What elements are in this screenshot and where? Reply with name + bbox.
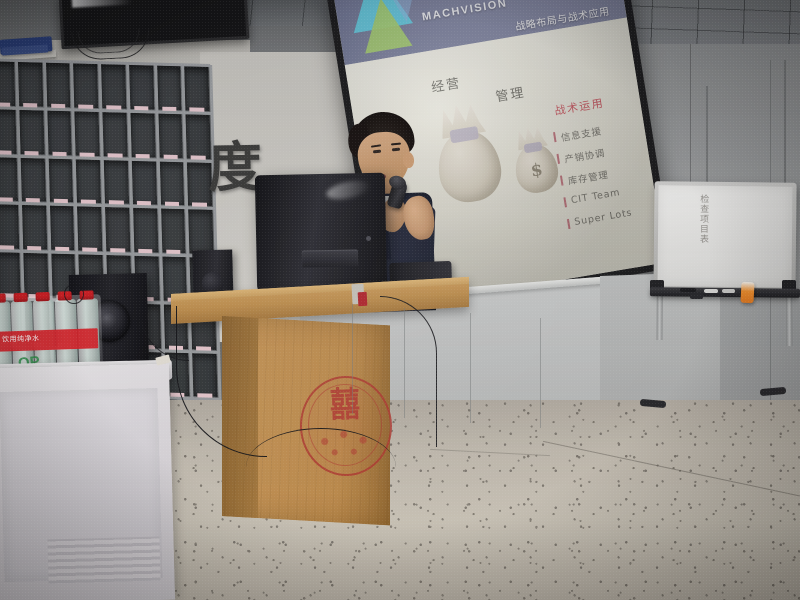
shelf-cell [45, 63, 70, 107]
bottle-cap [36, 292, 50, 301]
shelf-cell [159, 161, 184, 205]
shelf-cell [49, 206, 74, 250]
shelf-cell [73, 63, 98, 107]
shelf-cell [0, 157, 18, 201]
tactic-item: 产销协调 [563, 145, 606, 166]
cable-loop [64, 284, 84, 304]
shelf-cell [129, 65, 154, 109]
wall-panel-seam [470, 313, 471, 423]
tactic-item: 信息支援 [560, 123, 603, 144]
presenter-badge-accent [358, 292, 368, 306]
logo-triangle-green-icon [357, 0, 413, 54]
shelf-cell [0, 61, 15, 105]
wall-panel-seam [352, 304, 353, 414]
shelf-cell [130, 113, 155, 157]
wall-panel-seam [404, 308, 405, 418]
shelf-cell [48, 158, 73, 202]
bag-label-left: 经营 [430, 72, 463, 96]
whiteboard-marker [704, 289, 718, 293]
shelf-cell [75, 111, 100, 155]
tactic-item: 库存管理 [567, 167, 610, 188]
shelf-cell [184, 66, 209, 110]
bottle-cap [0, 293, 6, 302]
podium-seal-character: 囍 [309, 386, 378, 425]
shelf-cell [20, 157, 45, 201]
shelf-cell [104, 160, 129, 204]
money-bag-large [429, 99, 506, 206]
monitor-rear [255, 173, 387, 292]
tactics-heading: 战术运用 [553, 95, 605, 119]
shelf-cell [132, 160, 157, 204]
shelf-cell [77, 207, 102, 251]
whiteboard-marker [722, 289, 735, 293]
shelf-cell [157, 66, 182, 110]
counter-vent-grille [47, 537, 160, 584]
shelf-cell [133, 208, 158, 252]
hanging-wire [784, 60, 786, 190]
tactic-item: CIT Team [570, 187, 621, 206]
shelf-cell [23, 253, 48, 297]
tactic-item: Super Lots [574, 207, 633, 228]
shelf-cell [188, 210, 213, 254]
wall-panel-seam [540, 318, 541, 428]
slide-brand-name: MACHVISION [421, 0, 508, 23]
shelf-cell [47, 110, 72, 154]
shelf-cell [102, 112, 127, 156]
bottle-cap [14, 293, 28, 302]
room-photo: 度 MACHVISION 战略布局与战术应用 经营 管理 $ [0, 0, 800, 600]
shelf-cell [0, 109, 16, 153]
shelf-cell [19, 110, 44, 154]
shelf-cell [0, 252, 20, 296]
shelf-cell [105, 207, 130, 251]
shelf-cell [161, 209, 186, 253]
shelf-cell [76, 159, 101, 203]
shelf-cell [18, 62, 43, 106]
shelf-cell [158, 113, 183, 157]
shelf-cell [22, 205, 47, 249]
whiteboard-handwriting: 检查项目表 [666, 194, 709, 256]
shelf-cell [0, 204, 19, 248]
whiteboard-eraser [690, 292, 703, 299]
monitor-screw [366, 236, 371, 241]
shelf-cell [101, 64, 126, 108]
bag-label-right: 管理 [494, 82, 527, 106]
spray-bottle [740, 282, 754, 304]
monitor-label-plate [302, 249, 358, 267]
